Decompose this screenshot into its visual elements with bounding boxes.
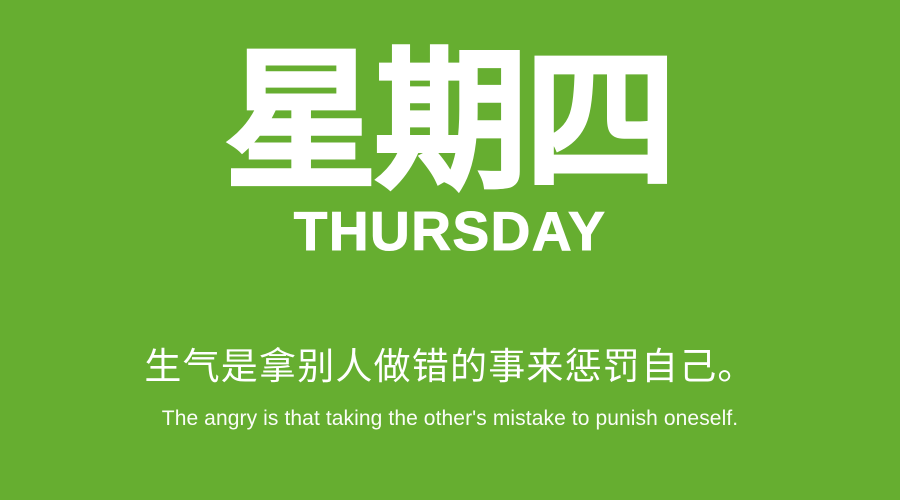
- hero-block: 星期四 THURSDAY: [0, 46, 900, 259]
- quote-text-latin: The angry is that taking the other's mis…: [0, 406, 900, 431]
- quote-text-cjk: 生气是拿别人做错的事来惩罚自己。: [0, 344, 900, 390]
- quote-block: 生气是拿别人做错的事来惩罚自己。 The angry is that takin…: [0, 344, 900, 431]
- weekday-title-latin: THURSDAY: [0, 204, 900, 259]
- weekday-title-cjk: 星期四: [0, 46, 900, 198]
- weekday-quote-card: 星期四 THURSDAY 生气是拿别人做错的事来惩罚自己。 The angry …: [0, 0, 900, 500]
